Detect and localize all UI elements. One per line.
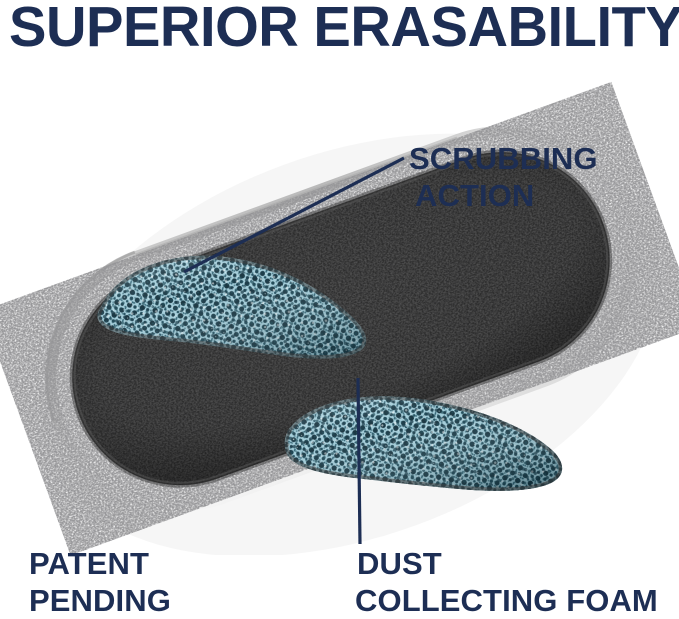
dust-leader-line [358,378,360,544]
callout-dust-line1: DUST [357,546,442,581]
callout-scrubbing-action: SCRUBBING ACTION [409,140,598,214]
product-illustration [0,55,679,555]
callout-patent-pending: PATENT PENDING [29,545,171,619]
callout-scrubbing-line1: SCRUBBING [409,141,598,176]
callout-dust-line2: COLLECTING FOAM [355,582,658,619]
callout-patent-line2: PENDING [29,582,171,619]
page-title: SUPERIOR ERASABILITY [9,0,679,58]
infographic-canvas: SUPERIOR ERASABILITY [0,0,679,614]
callout-dust-collecting-foam: DUST COLLECTING FOAM [357,545,658,619]
callout-scrubbing-line2: ACTION [415,177,598,214]
callout-patent-line1: PATENT [29,546,149,581]
